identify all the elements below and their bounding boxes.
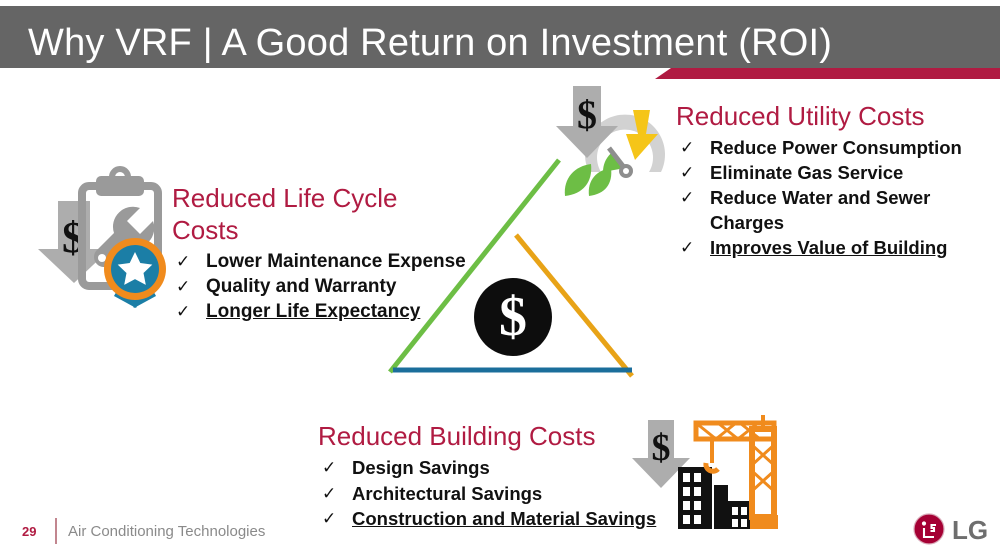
list-item: ✓Improves Value of Building	[676, 235, 996, 260]
check-icon: ✓	[176, 299, 190, 324]
title-bar: Why VRF | A Good Return on Investment (R…	[0, 6, 1000, 68]
check-icon: ✓	[680, 235, 694, 260]
list-item: ✓Reduce Power Consumption	[676, 135, 996, 160]
list-item: ✓Longer Life Expectancy	[172, 299, 512, 324]
check-icon: ✓	[322, 481, 336, 507]
footer-divider	[55, 518, 57, 544]
list-item: ✓Lower Maintenance Expense	[172, 249, 512, 274]
bullet-list: ✓Reduce Power Consumption ✓Eliminate Gas…	[676, 135, 996, 260]
title-accent-bar	[655, 68, 1000, 79]
award-ribbon-icon	[104, 238, 166, 308]
clipboard-wrench-award-icon: $	[22, 166, 180, 326]
check-icon: ✓	[176, 274, 190, 299]
check-icon: ✓	[322, 455, 336, 481]
list-item: ✓Construction and Material Savings	[318, 506, 688, 532]
list-item: ✓Architectural Savings	[318, 481, 688, 507]
lg-logo: LG	[912, 512, 996, 546]
check-icon: ✓	[176, 249, 190, 274]
footer-label: Air Conditioning Technologies	[68, 523, 265, 540]
energy-gauge-leaf-icon: $	[551, 84, 691, 196]
section-heading: Reduced Life Cycle Costs	[172, 182, 422, 246]
page-title: Why VRF | A Good Return on Investment (R…	[28, 20, 832, 66]
list-item: ✓Design Savings	[318, 455, 688, 481]
bullet-list: ✓Design Savings ✓Architectural Savings ✓…	[318, 455, 688, 532]
list-item: ✓Reduce Water and Sewer Charges	[676, 185, 996, 235]
slide-canvas: Why VRF | A Good Return on Investment (R…	[0, 0, 1000, 558]
check-icon: ✓	[680, 185, 694, 210]
list-item: ✓Eliminate Gas Service	[676, 160, 996, 185]
bullet-list: ✓Lower Maintenance Expense ✓Quality and …	[172, 249, 512, 324]
lg-wordmark: LG	[952, 515, 988, 545]
section-heading: Reduced Building Costs	[318, 420, 688, 452]
section-heading: Reduced Utility Costs	[676, 100, 996, 132]
svg-text:$: $	[577, 92, 597, 137]
section-reduced-life-cycle-costs: Reduced Life Cycle Costs ✓Lower Maintena…	[172, 182, 512, 324]
page-number: 29	[22, 524, 36, 539]
down-arrow-dollar-icon: $	[38, 201, 110, 283]
section-reduced-building-costs: Reduced Building Costs ✓Design Savings ✓…	[318, 420, 688, 532]
list-item: ✓Quality and Warranty	[172, 274, 512, 299]
check-icon: ✓	[680, 135, 694, 160]
section-reduced-utility-costs: Reduced Utility Costs ✓Reduce Power Cons…	[676, 100, 996, 260]
check-icon: ✓	[322, 506, 336, 532]
check-icon: ✓	[680, 160, 694, 185]
